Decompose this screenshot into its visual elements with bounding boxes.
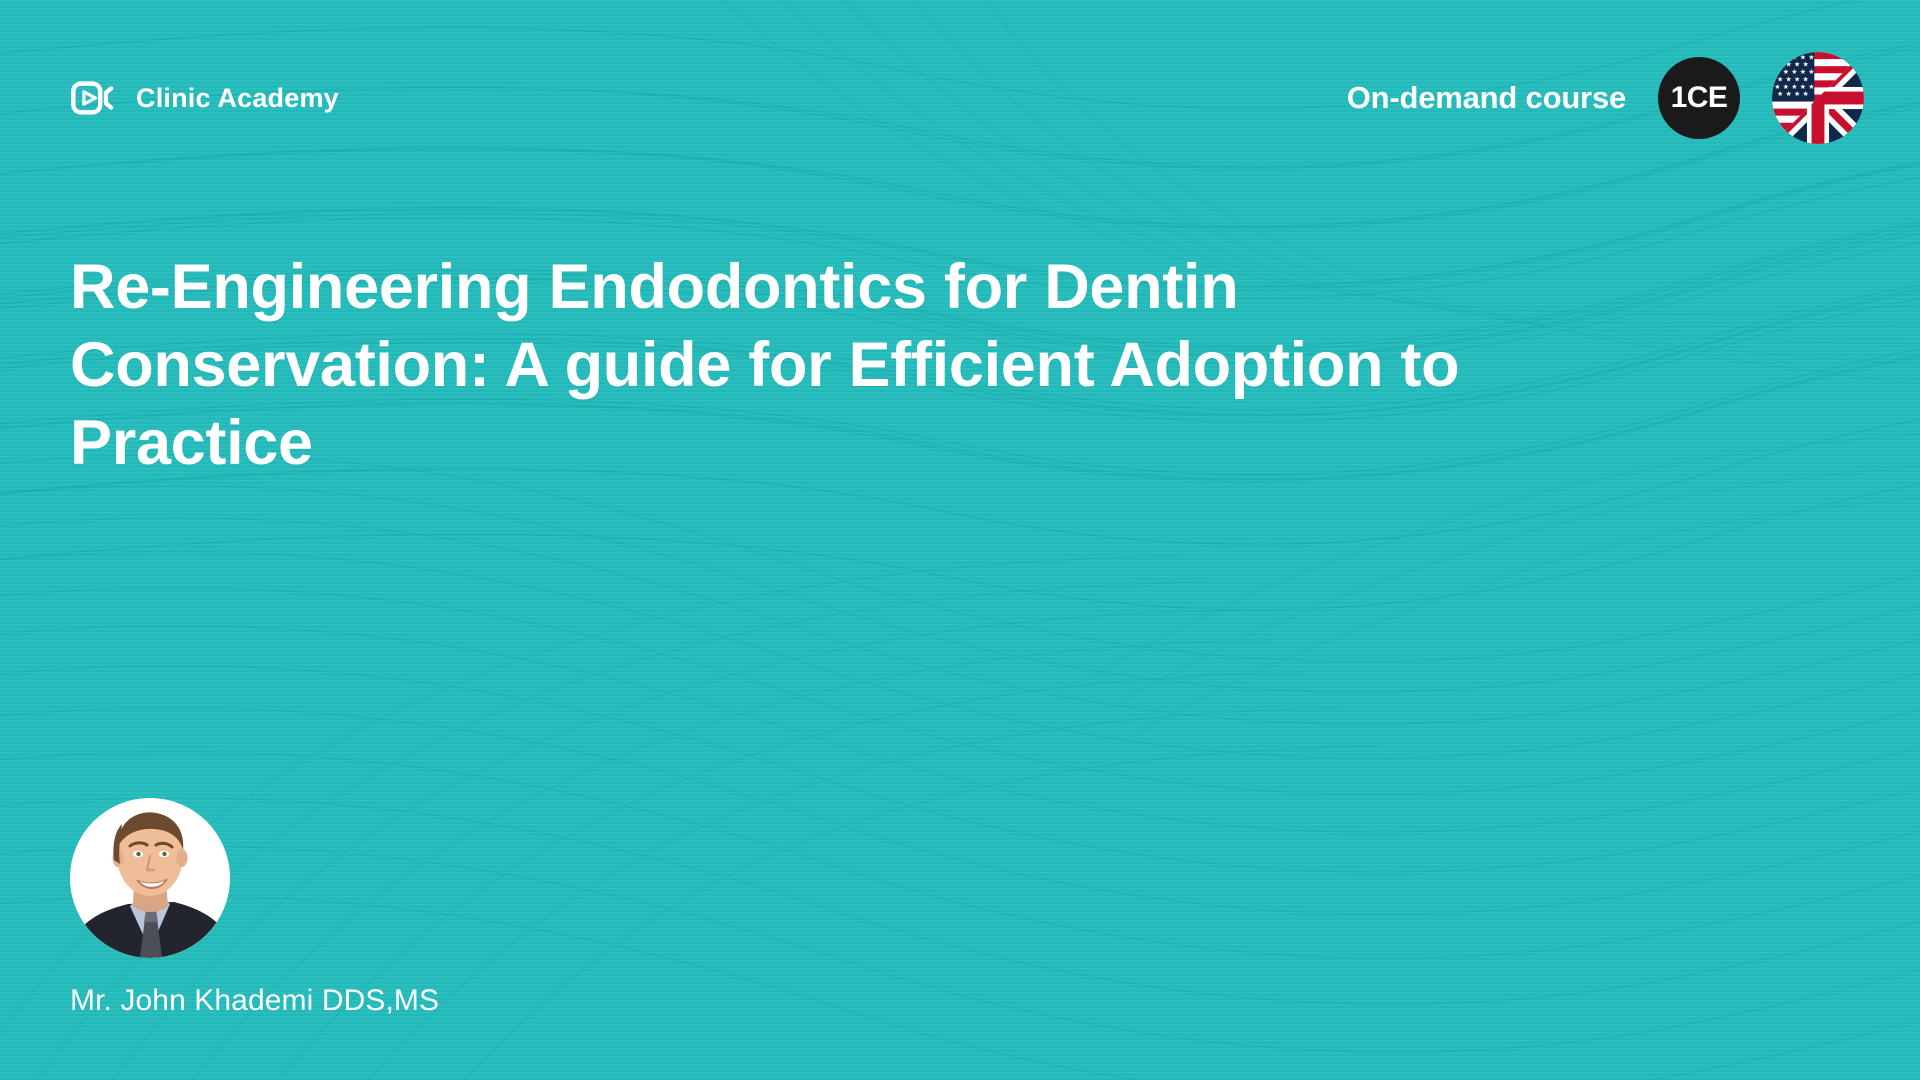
header-right-group: On-demand course 1CE [1347, 52, 1864, 144]
brand-name: Clinic Academy [136, 83, 339, 114]
svg-text:★ ★ ★ ★: ★ ★ ★ ★ [1777, 90, 1809, 98]
title-block: Re-Engineering Endodontics for Dentin Co… [70, 248, 1650, 482]
ce-credit-badge: 1CE [1658, 57, 1740, 139]
slide-header: Clinic Academy On-demand course 1CE [0, 0, 1920, 196]
presenter-portrait-avatar [70, 798, 230, 958]
course-type-label: On-demand course [1347, 80, 1626, 116]
us-uk-combined-flag-icon: ★ ★ ★ ★ ★ ★ ★ ★ ★ ★ ★ ★ ★ ★ ★ ★ ★ ★ ★ ★ … [1772, 52, 1864, 144]
course-cover-slide: Clinic Academy On-demand course 1CE [0, 0, 1920, 1080]
presenter-avatar [70, 798, 230, 958]
ce-credit-label: 1CE [1671, 83, 1728, 113]
presenter-block: Mr. John Khademi DDS,MS [70, 798, 439, 1018]
clinic-academy-video-logo-icon [70, 75, 116, 121]
presenter-name: Mr. John Khademi DDS,MS [70, 984, 439, 1018]
course-title: Re-Engineering Endodontics for Dentin Co… [70, 248, 1650, 482]
brand-lockup[interactable]: Clinic Academy [70, 75, 339, 121]
